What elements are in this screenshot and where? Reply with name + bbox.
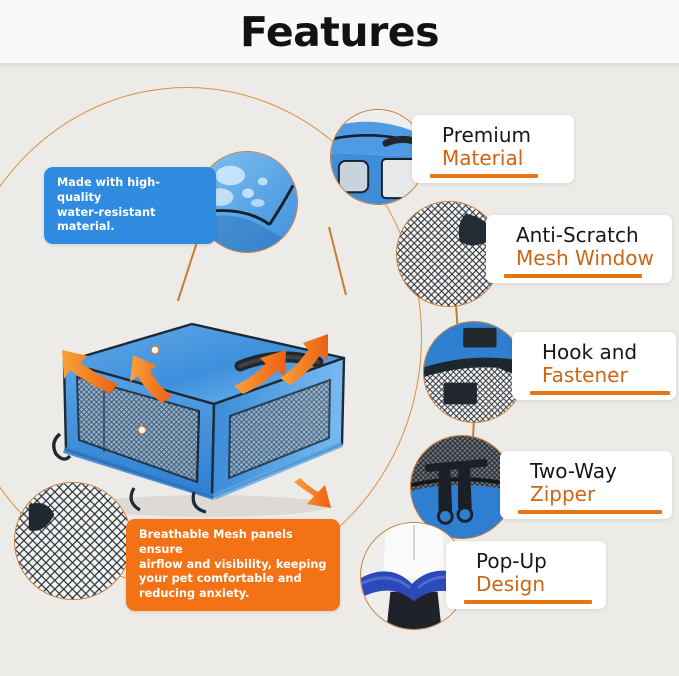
feature-label-line1: Anti-Scratch [516,224,656,247]
feature-underline [430,174,538,178]
feature-underline [518,510,662,514]
feature-underline [530,391,670,395]
feature-card-premium-material[interactable]: Premium Material [412,115,574,183]
callout-line: Made with high-quality [57,176,204,206]
water-resistant-callout: Made with high-quality water-resistant m… [44,167,216,244]
features-stage: Made with high-quality water-resistant m… [0,67,679,676]
mesh-panel-thumb [14,482,132,600]
feature-label-line1: Two-Way [530,460,656,483]
breathable-mesh-callout: Breathable Mesh panels ensure airflow an… [126,519,340,611]
feature-label-line1: Pop-Up [476,550,590,573]
feature-underline [504,274,642,278]
feature-label-line2: Design [476,573,590,596]
feature-label-line2: Fastener [542,364,660,387]
feature-card-hook-and-fastener[interactable]: Hook and Fastener [512,332,676,400]
header-bar: Features [0,0,679,63]
feature-label-line2: Material [442,147,558,170]
callout-line: material. [57,220,204,235]
callout-line: water-resistant [57,206,204,221]
feature-card-two-way-zipper[interactable]: Two-Way Zipper [500,451,672,519]
feature-underline [464,600,592,604]
callout-line: your pet comfortable and [139,572,328,587]
feature-card-pop-up-design[interactable]: Pop-Up Design [446,541,606,609]
feature-label-line1: Hook and [542,341,660,364]
feature-label-line2: Mesh Window [516,247,656,270]
hook-loop-thumb [423,321,525,423]
callout-line: Breathable Mesh panels ensure [139,528,328,558]
infographic-root: Features [0,0,679,676]
feature-card-anti-scratch-mesh[interactable]: Anti-Scratch Mesh Window [486,215,672,283]
callout-line: airflow and visibility, keeping [139,558,328,573]
feature-label-line1: Premium [442,124,558,147]
feature-label-line2: Zipper [530,483,656,506]
page-title: Features [240,8,439,56]
callout-line: reducing anxiety. [139,587,328,602]
